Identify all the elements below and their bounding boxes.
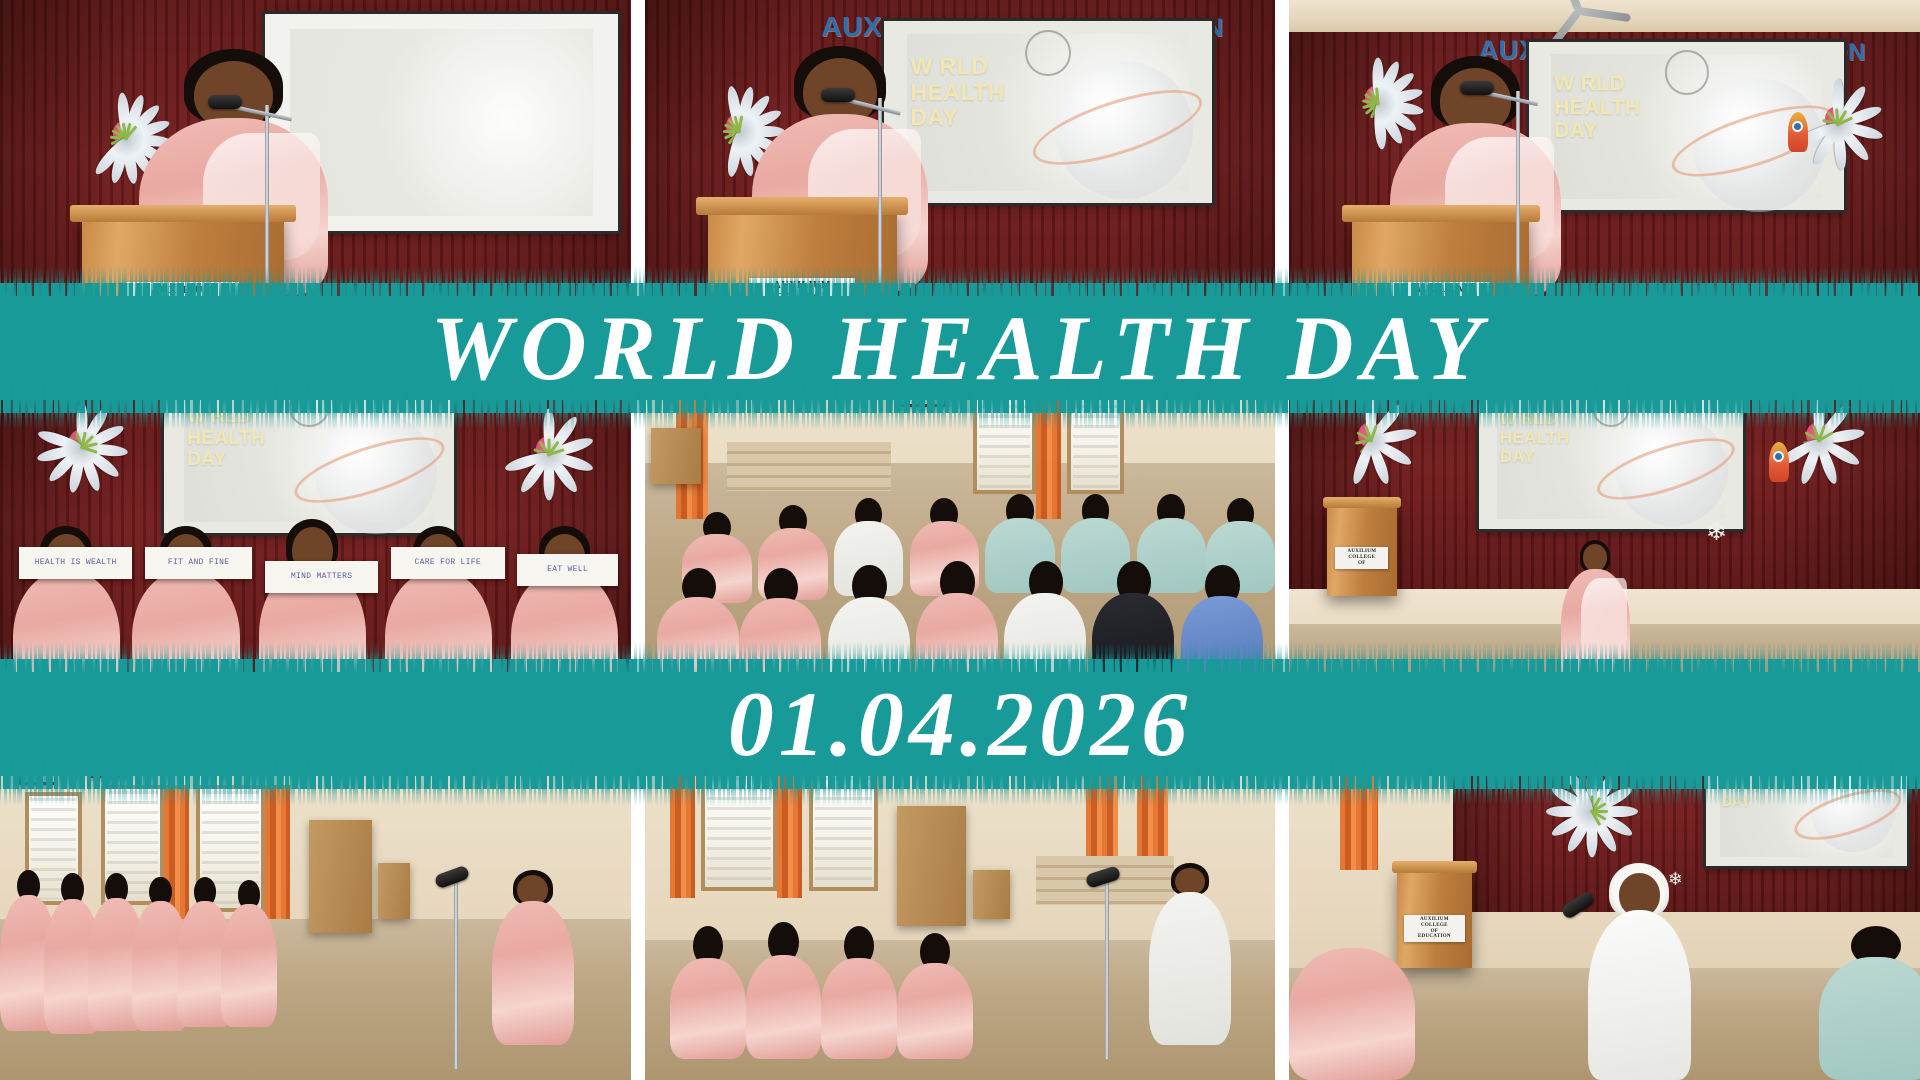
projector-screen-slide: W RLD HEALTH DAY (164, 379, 454, 533)
podium: AUXILIUM COLLEGE OF (708, 210, 897, 350)
chair (378, 863, 410, 919)
window (809, 771, 878, 890)
stage-stairs (727, 442, 891, 491)
world-health-day-poster: AUX TION (0, 0, 1920, 1080)
plate-line-2: COLLEGE (749, 292, 855, 304)
seated-student (657, 568, 739, 687)
slide-line-2: HEALTH (1554, 96, 1640, 120)
wall-letters-tion: TION (505, 372, 559, 398)
photo-6-scene: W RLD HEALTH DAY (1289, 365, 1920, 716)
saree-torso (492, 901, 574, 1045)
photo-9-scene: W RLD HEALTH DAY (1289, 729, 1920, 1080)
cupboard (897, 806, 966, 925)
saree-torso (1181, 596, 1263, 695)
saree-torso (1092, 593, 1174, 694)
who-logo-icon (289, 386, 330, 427)
placard-3: MIND MATTERS (265, 561, 379, 593)
photo-cell-2[interactable]: AUX TION W RLD HEALTH DAY (645, 0, 1276, 351)
seated-student (1004, 561, 1086, 694)
podium-nameplate: AUXILIUM COLLEGE OF EDUCATION (1404, 915, 1465, 943)
saree-torso (1289, 948, 1415, 1080)
podium-top (696, 197, 908, 215)
standing-student (221, 880, 278, 1027)
who-logo-icon (1025, 30, 1071, 76)
photo-cell-4[interactable]: AUX TION W RLD HEALTH DAY (0, 365, 631, 716)
foreground-student (1819, 926, 1920, 1080)
mic-stand-pole (1105, 877, 1109, 1059)
plate-line-3: OF (1391, 305, 1490, 316)
plate-line-3: OF (126, 310, 239, 323)
placard-5: EAT WELL (517, 554, 618, 586)
screen-surface (290, 29, 594, 216)
snowflake-decoration-icon: ❄ (1706, 519, 1728, 545)
slide-line-3: DAY (1722, 794, 1779, 810)
projector-screen-slide: W RLD HEALTH DAY (884, 21, 1212, 203)
podium-nameplate: AUXILIUM COLLEGE OF (126, 282, 239, 325)
microphone-icon (821, 88, 855, 102)
saree-torso (916, 593, 998, 694)
saree-torso (746, 955, 822, 1059)
slide-line-2: HEALTH (1500, 428, 1570, 447)
podium-top (70, 205, 296, 222)
wall-letters-aux: AUX (821, 11, 882, 43)
plate-line-3: OF (749, 304, 855, 316)
podium-nameplate: AUXILIUM COLLEGE OF EDUCATION (1391, 282, 1490, 328)
saree-torso (1819, 957, 1920, 1080)
saree-torso (1149, 892, 1231, 1045)
photo-cell-8[interactable] (645, 729, 1276, 1080)
photo-cell-7[interactable] (0, 729, 631, 1080)
mic-stand-pole (265, 105, 269, 350)
saree-torso (1004, 593, 1086, 694)
seated-student (1181, 565, 1263, 695)
photo-cell-3[interactable]: AUX TION W RLD HEALTH DAY (1289, 0, 1920, 351)
saree-torso (657, 597, 739, 688)
saree-torso (821, 958, 897, 1059)
sister-speaker (1586, 863, 1693, 1080)
projector-screen-slide: W RLD HEALTH DAY (1479, 382, 1744, 529)
podium: AUXILIUM COLLEGE OF EDUCATION (1352, 217, 1529, 350)
saree-torso (511, 571, 618, 715)
foreground-student (1289, 940, 1415, 1080)
side-table (973, 870, 1011, 919)
rocket-decoration-icon (1788, 112, 1808, 152)
wall-frame (19, 757, 57, 785)
podium-far (651, 428, 701, 484)
saree-torso (670, 958, 746, 1059)
saree-torso (132, 571, 239, 715)
photo-1-scene: AUX TION (0, 0, 631, 351)
curtain (670, 771, 695, 897)
photo-7-scene (0, 729, 631, 1080)
slide-line-2: HEALTH (187, 428, 265, 449)
plate-line-4: EDUCATION (1391, 316, 1490, 327)
curtain (1086, 757, 1118, 855)
placard-2: FIT AND FINE (145, 547, 252, 579)
who-logo-icon (1592, 390, 1629, 427)
window (701, 771, 777, 890)
photo-4-scene: AUX TION W RLD HEALTH DAY (0, 365, 631, 716)
seated-student (828, 565, 910, 698)
photo-cell-6[interactable]: W RLD HEALTH DAY (1289, 365, 1920, 716)
slide-line-1: W RLD (1722, 763, 1779, 779)
slide-title: W RLD HEALTH DAY (1722, 763, 1779, 810)
placard-1: HEALTH IS WEALTH (19, 547, 133, 579)
seated-student (670, 926, 746, 1059)
seated-student (739, 568, 821, 694)
podium-top (1342, 205, 1540, 222)
placard-4: CARE FOR LIFE (391, 547, 505, 579)
speaker-person (1149, 863, 1231, 1045)
photo-cell-9[interactable]: W RLD HEALTH DAY (1289, 729, 1920, 1080)
wall-frame (88, 747, 132, 779)
seated-student (1092, 561, 1174, 694)
speaker-person (1561, 540, 1630, 687)
window (1067, 389, 1124, 494)
photo-8-scene (645, 729, 1276, 1080)
photo-collage-grid: AUX TION (0, 0, 1920, 1080)
saree-torso (897, 963, 973, 1059)
podium-top (1392, 861, 1477, 873)
slide-line-1: W RLD (1554, 72, 1640, 96)
slide-line-3: DAY (1500, 447, 1570, 466)
podium-nameplate: AUXILIUM COLLEGE OF (749, 278, 855, 317)
wall-frame (897, 375, 947, 407)
seated-student (916, 561, 998, 694)
saree-torso (13, 571, 120, 715)
seated-student (897, 933, 973, 1059)
mic-stand-pole (878, 98, 882, 350)
podium: AUXILIUM COLLEGE OF (1327, 505, 1396, 596)
plate-line-1: AUXILIUM (1391, 284, 1490, 295)
seated-student (821, 926, 897, 1059)
mic-stand-pole (1516, 91, 1520, 350)
saree-torso (828, 597, 910, 698)
curtain (1137, 757, 1169, 855)
saree-torso (385, 571, 492, 715)
seated-student (746, 922, 822, 1059)
plate-line-1: AUXILIUM (749, 280, 855, 292)
microphone-icon (1460, 81, 1494, 95)
who-logo-icon (1665, 50, 1709, 94)
microphone-icon (208, 95, 242, 109)
speaker-person (492, 870, 574, 1045)
face (1583, 544, 1607, 571)
slide-line-3: DAY (1554, 119, 1640, 143)
plate-line-2: COLLEGE (126, 297, 239, 310)
plate-line-1: AUXILIUM (126, 284, 239, 297)
plate-line-2: COLLEGE (1391, 295, 1490, 306)
curtain (777, 771, 802, 897)
plate-line-3: OF (1335, 561, 1388, 567)
projector-screen-slide: W RLD HEALTH DAY (1706, 740, 1908, 866)
slide-line-3: DAY (187, 449, 265, 470)
photo-cell-1[interactable]: AUX TION (0, 0, 631, 351)
slide-line-1: W RLD (1500, 409, 1570, 428)
mic-stand-pole (454, 877, 458, 1070)
slide-line-1: W RLD (187, 406, 265, 427)
photo-2-scene: AUX TION W RLD HEALTH DAY (645, 0, 1276, 351)
cupboard (309, 820, 372, 932)
photo-5-scene (645, 365, 1276, 716)
slide-line-2: HEALTH (1722, 778, 1779, 794)
slide-title: W RLD HEALTH DAY (187, 406, 265, 470)
rocket-decoration-icon (1769, 442, 1789, 482)
slide-title: W RLD HEALTH DAY (1500, 409, 1570, 466)
student-person (259, 519, 366, 715)
photo-3-scene: AUX TION W RLD HEALTH DAY (1289, 0, 1920, 351)
saree-torso (221, 904, 278, 1028)
saree-pallu (1581, 578, 1627, 663)
window (973, 389, 1036, 494)
habit-robe (1588, 910, 1691, 1080)
saree-torso (739, 598, 821, 694)
podium-top (1323, 497, 1401, 508)
slide-title: W RLD HEALTH DAY (1554, 72, 1640, 143)
podium-nameplate: AUXILIUM COLLEGE OF (1335, 547, 1388, 569)
podium: AUXILIUM COLLEGE OF (82, 217, 284, 350)
photo-cell-5[interactable] (645, 365, 1276, 716)
curtain (1340, 750, 1378, 869)
